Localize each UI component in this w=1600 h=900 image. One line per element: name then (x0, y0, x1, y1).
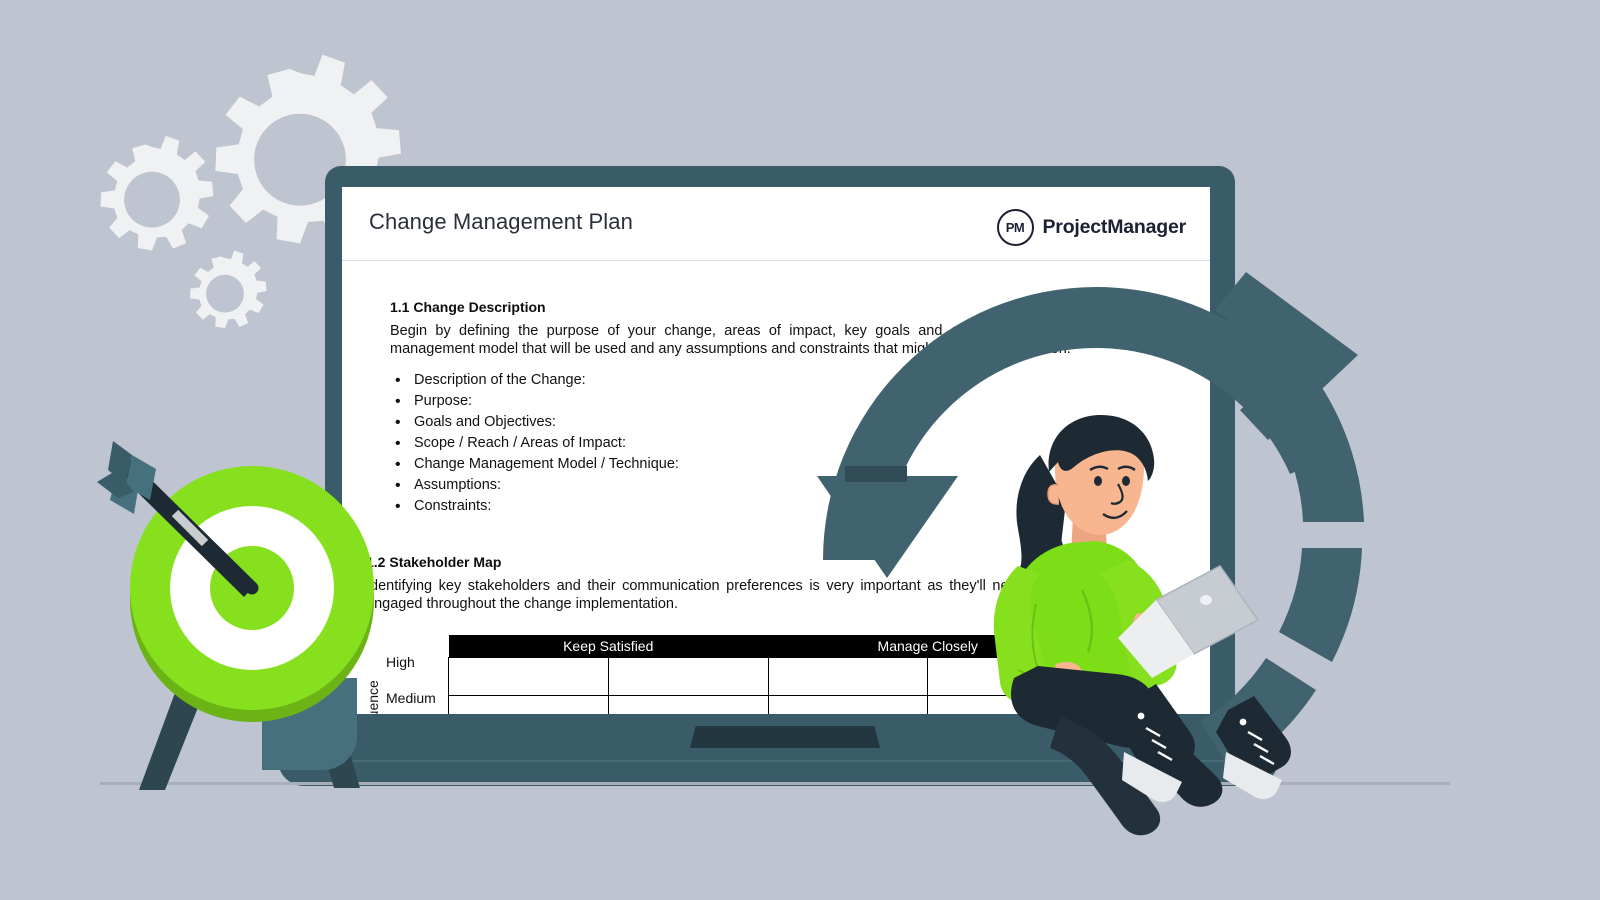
laptop-base-highlight (300, 760, 1260, 762)
axis-label-influence: Influence (366, 641, 380, 714)
section-heading: 1.2 Stakeholder Map (366, 554, 1186, 570)
section-paragraph: Identifying key stakeholders and their c… (366, 578, 1066, 613)
table-row (449, 658, 1088, 696)
list-item: Goals and Objectives: (366, 414, 1186, 432)
table-cell[interactable] (608, 696, 768, 714)
laptop-trackpad-notch (690, 726, 880, 748)
list-item: Change Management Model / Technique: (366, 456, 1186, 474)
table-row (449, 696, 1088, 714)
brand-logo: PM ProjectManager (997, 209, 1187, 246)
section-paragraph: Begin by defining the purpose of your ch… (390, 323, 1102, 358)
list-item: Scope / Reach / Areas of Impact: (366, 435, 1186, 453)
row-label-medium: Medium (386, 687, 448, 714)
table-cell[interactable] (768, 658, 928, 696)
gear-small-icon (190, 250, 266, 328)
table-cell[interactable] (449, 658, 609, 696)
table-header-row: Keep Satisfied Manage Closely (449, 635, 1088, 658)
table-cell[interactable] (449, 696, 609, 714)
matrix-row-labels: High Medium (386, 651, 448, 714)
list-item: Assumptions: (366, 477, 1186, 495)
table-cell[interactable] (928, 658, 1088, 696)
table-cell[interactable] (928, 696, 1088, 714)
stakeholder-matrix: Influence High Medium Keep Satisfied Man… (366, 635, 1186, 714)
change-description-bullet-list: Description of the Change: Purpose: Goal… (366, 372, 1186, 516)
row-label-high: High (386, 651, 448, 687)
document-header: Change Management Plan PM ProjectManager (342, 187, 1210, 261)
column-header-manage-closely: Manage Closely (768, 635, 1088, 658)
list-item: Description of the Change: (366, 372, 1186, 390)
table-cell[interactable] (608, 658, 768, 696)
list-item: Purpose: (366, 393, 1186, 411)
brand-name: ProjectManager (1043, 216, 1187, 239)
table-cell[interactable] (768, 696, 928, 714)
column-header-keep-satisfied: Keep Satisfied (449, 635, 769, 658)
page-title: Change Management Plan (369, 209, 633, 235)
document-body: 1.1 Change Description Begin by defining… (342, 299, 1210, 714)
section-change-description: 1.1 Change Description Begin by defining… (366, 299, 1186, 516)
ground-line (100, 782, 1450, 785)
section-stakeholder-map: 1.2 Stakeholder Map Identifying key stak… (366, 554, 1186, 714)
illustration-stage: Change Management Plan PM ProjectManager… (0, 0, 1600, 900)
document-page: Change Management Plan PM ProjectManager… (342, 187, 1210, 714)
gear-medium-icon (101, 136, 214, 251)
pm-monogram-icon: PM (997, 209, 1034, 246)
section-heading: 1.1 Change Description (390, 299, 1186, 315)
list-item: Constraints: (366, 498, 1186, 516)
stakeholder-table: Keep Satisfied Manage Closely (448, 635, 1088, 714)
